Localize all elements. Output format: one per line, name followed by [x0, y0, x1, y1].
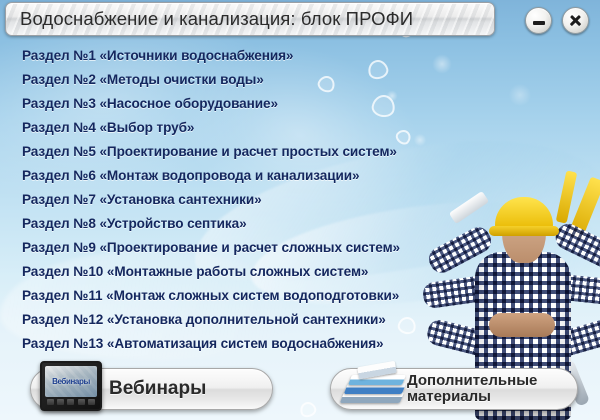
- section-item-5[interactable]: Раздел №5 «Проектирование и расчет прост…: [22, 140, 482, 164]
- section-item-2[interactable]: Раздел №2 «Методы очистки воды»: [22, 68, 482, 92]
- book-layer: [348, 375, 406, 385]
- section-item-7[interactable]: Раздел №7 «Установка сантехники»: [22, 188, 482, 212]
- monitor-button-icon: [67, 399, 74, 405]
- section-list: Раздел №1 «Источники водоснабжения» Разд…: [22, 44, 482, 356]
- section-item-12[interactable]: Раздел №12 «Установка дополнительной сан…: [22, 308, 482, 332]
- monitor-picture: Вебинары: [45, 366, 97, 397]
- monitor-button-icon: [88, 399, 95, 405]
- materials-label-line1: Дополнительные: [407, 372, 537, 389]
- section-item-13[interactable]: Раздел №13 «Автоматизация систем водосна…: [22, 332, 482, 356]
- tape-measure-icon: [568, 176, 600, 239]
- window-title: Водоснабжение и канализация: блок ПРОФИ: [20, 8, 413, 30]
- section-item-8[interactable]: Раздел №8 «Устройство септика»: [22, 212, 482, 236]
- worker-arm: [552, 220, 600, 272]
- materials-button-label: Дополнительные материалы: [407, 373, 537, 405]
- monitor-caption: Вебинары: [52, 377, 90, 386]
- monitor-screen: Вебинары: [40, 361, 102, 411]
- monitor-button-icon: [47, 399, 54, 405]
- worker-arm: [557, 274, 600, 307]
- hard-hat-icon: [495, 197, 553, 231]
- monitor-button-icon: [57, 399, 64, 405]
- section-item-11[interactable]: Раздел №11 «Монтаж сложных систем водопо…: [22, 284, 482, 308]
- minimize-icon: [533, 21, 545, 25]
- section-item-3[interactable]: Раздел №3 «Насосное оборудование»: [22, 92, 482, 116]
- webinars-button-label: Вебинары: [109, 379, 206, 399]
- section-item-10[interactable]: Раздел №10 «Монтажные работы сложных сис…: [22, 260, 482, 284]
- section-item-6[interactable]: Раздел №6 «Монтаж водопровода и канализа…: [22, 164, 482, 188]
- worker-arm: [550, 316, 600, 359]
- monitor-button-icon: [78, 399, 85, 405]
- books-icon[interactable]: [340, 362, 408, 410]
- application-window: Водоснабжение и канализация: блок ПРОФИ …: [0, 0, 600, 420]
- worker-head: [502, 211, 546, 263]
- section-item-9[interactable]: Раздел №9 «Проектирование и расчет сложн…: [22, 236, 482, 260]
- close-icon: [569, 14, 582, 27]
- monitor-control-bar: [45, 396, 97, 407]
- materials-label-line2: материалы: [407, 388, 491, 405]
- water-droplet-icon: [298, 400, 318, 420]
- close-button[interactable]: [562, 7, 589, 34]
- title-bar: Водоснабжение и канализация: блок ПРОФИ: [5, 2, 495, 36]
- section-item-4[interactable]: Раздел №4 «Выбор труб»: [22, 116, 482, 140]
- worker-hands: [489, 313, 555, 337]
- minimize-button[interactable]: [525, 7, 552, 34]
- monitor-icon[interactable]: Вебинары: [40, 361, 102, 411]
- spirit-level-icon: [556, 170, 578, 223]
- section-item-1[interactable]: Раздел №1 «Источники водоснабжения»: [22, 44, 482, 68]
